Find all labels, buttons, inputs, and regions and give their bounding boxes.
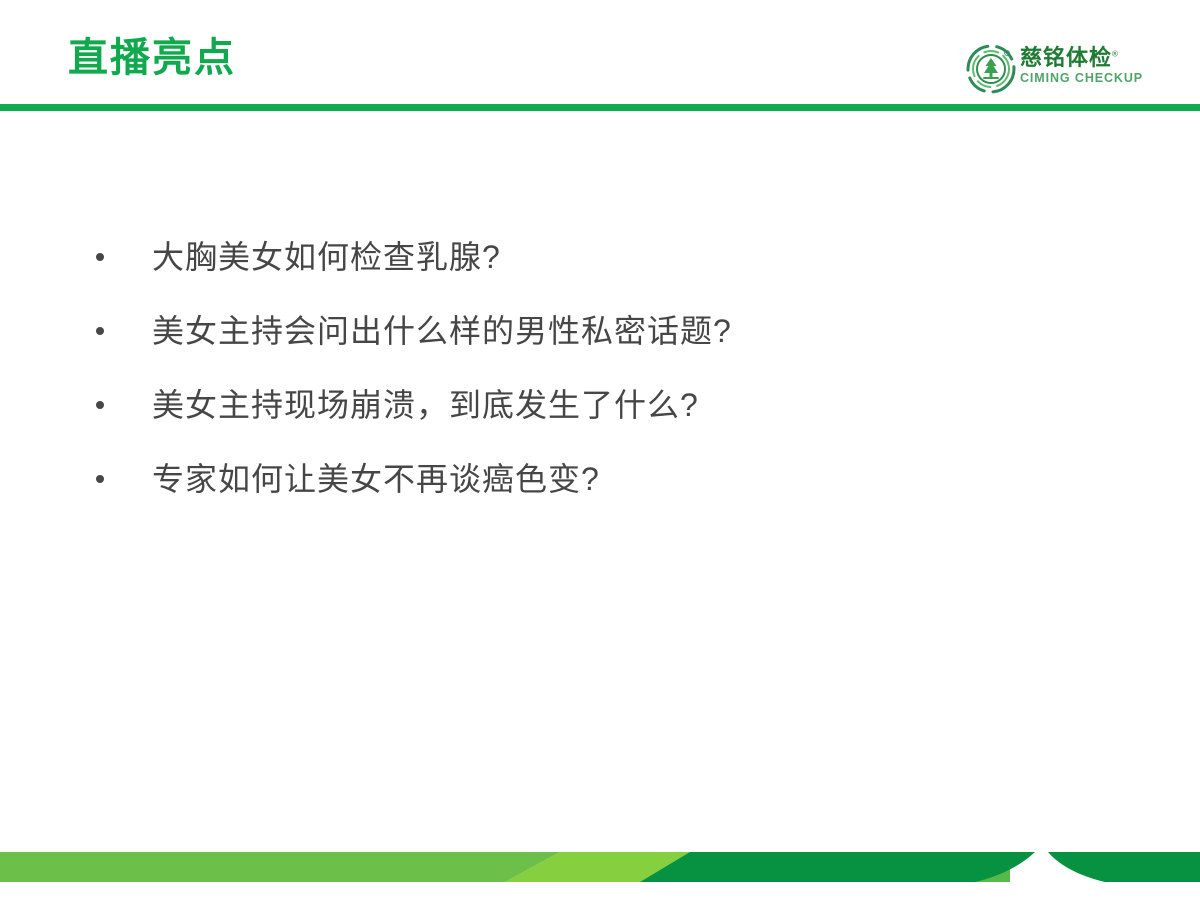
logo-english-name: CIMING CHECKUP — [1020, 72, 1146, 86]
logo-chinese-text: 慈铭体检 — [1020, 45, 1112, 70]
bullet-list: 大胸美女如何检查乳腺? 美女主持会问出什么样的男性私密话题? 美女主持现场崩溃，… — [0, 220, 1200, 516]
footer-segment-light-green — [0, 852, 560, 882]
list-item: 美女主持现场崩溃，到底发生了什么? — [0, 368, 1200, 442]
list-item-label: 专家如何让美女不再谈癌色变? — [152, 460, 600, 498]
list-item: 美女主持会问出什么样的男性私密话题? — [0, 294, 1200, 368]
bullet-dot-icon — [96, 475, 104, 483]
ciming-emblem-icon — [966, 44, 1016, 94]
bullet-dot-icon — [96, 253, 104, 261]
footer-segment-dark-green-left — [640, 852, 1035, 882]
header-divider-rule — [0, 104, 1200, 111]
bullet-dot-icon — [96, 401, 104, 409]
footer-decorative-band — [0, 852, 1200, 882]
registered-trademark-icon: ® — [1112, 50, 1119, 59]
list-item: 大胸美女如何检查乳腺? — [0, 220, 1200, 294]
brand-logo: 慈铭体检® CIMING CHECKUP — [966, 44, 1146, 96]
bullet-dot-icon — [96, 327, 104, 335]
page-title: 直播亮点 — [68, 38, 236, 78]
slide-canvas: 直播亮点 慈铭体检® CIMING CHECKUP — [0, 0, 1200, 900]
slide-header: 直播亮点 慈铭体检® CIMING CHECKUP — [0, 0, 1200, 110]
logo-wordmark: 慈铭体检® CIMING CHECKUP — [1020, 45, 1146, 86]
list-item: 专家如何让美女不再谈癌色变? — [0, 442, 1200, 516]
list-item-label: 美女主持会问出什么样的男性私密话题? — [152, 312, 732, 350]
list-item-label: 大胸美女如何检查乳腺? — [152, 238, 501, 276]
logo-chinese-name: 慈铭体检® — [1020, 45, 1146, 70]
list-item-label: 美女主持现场崩溃，到底发生了什么? — [152, 386, 699, 424]
footer-segment-dark-green-right — [1048, 852, 1200, 882]
